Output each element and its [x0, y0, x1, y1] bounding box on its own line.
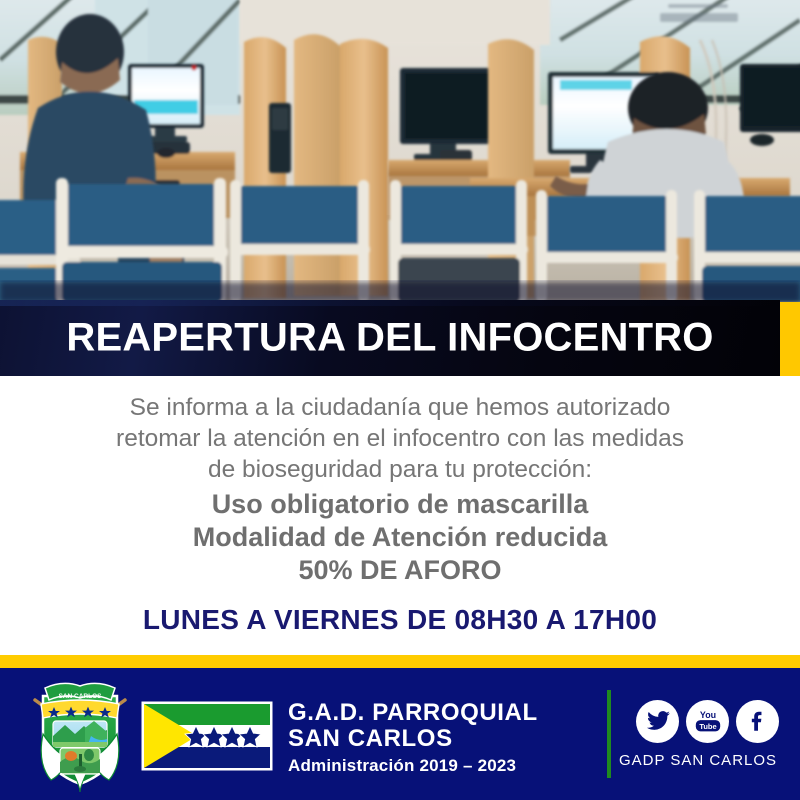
banner-accent-bar	[780, 302, 800, 376]
title-banner: REAPERTURA DEL INFOCENTRO	[0, 300, 780, 376]
twitter-button[interactable]	[636, 700, 679, 743]
intro-line-3: de bioseguridad para tu protección:	[50, 454, 750, 485]
yellow-divider	[0, 655, 800, 668]
social-links: You Tube	[636, 698, 780, 744]
youtube-icon: You Tube	[693, 706, 723, 736]
youtube-button[interactable]: You Tube	[686, 700, 729, 743]
svg-text:You: You	[699, 710, 715, 720]
measure-item-1: Uso obligatorio de mascarilla	[50, 488, 750, 521]
intro-line-2: retomar la atención en el infocentro con…	[50, 423, 750, 454]
social-handle: GADP SAN CARLOS	[600, 752, 796, 769]
infocentro-photo	[0, 0, 800, 302]
facebook-icon	[745, 708, 771, 734]
facebook-button[interactable]	[736, 700, 779, 743]
svg-text:Tube: Tube	[699, 722, 716, 731]
page-title: REAPERTURA DEL INFOCENTRO	[0, 316, 780, 361]
opening-hours: LUNES A VIERNES DE 08H30 A 17H00	[50, 604, 750, 636]
body-content: Se informa a la ciudadanía que hemos aut…	[0, 376, 800, 655]
intro-text: Se informa a la ciudadanía que hemos aut…	[50, 392, 750, 485]
org-line-2: SAN CARLOS	[288, 726, 538, 752]
poster: REAPERTURA DEL INFOCENTRO Se informa a l…	[0, 0, 800, 800]
measure-item-2: Modalidad de Atención reducida	[50, 521, 750, 554]
photo-illustration	[0, 0, 800, 302]
intro-line-1: Se informa a la ciudadanía que hemos aut…	[50, 392, 750, 423]
svg-text:SAN CARLOS: SAN CARLOS	[59, 693, 103, 700]
parish-flag	[139, 699, 275, 773]
organization-name: G.A.D. PARROQUIAL SAN CARLOS Administrac…	[288, 700, 538, 776]
administration-period: Administración 2019 – 2023	[288, 756, 538, 776]
org-line-1: G.A.D. PARROQUIAL	[288, 700, 538, 726]
measure-item-3: 50% DE AFORO	[50, 554, 750, 587]
twitter-icon	[645, 708, 671, 734]
coat-of-arms: SAN CARLOS	[27, 676, 133, 792]
measures-list: Uso obligatorio de mascarilla Modalidad …	[50, 488, 750, 587]
